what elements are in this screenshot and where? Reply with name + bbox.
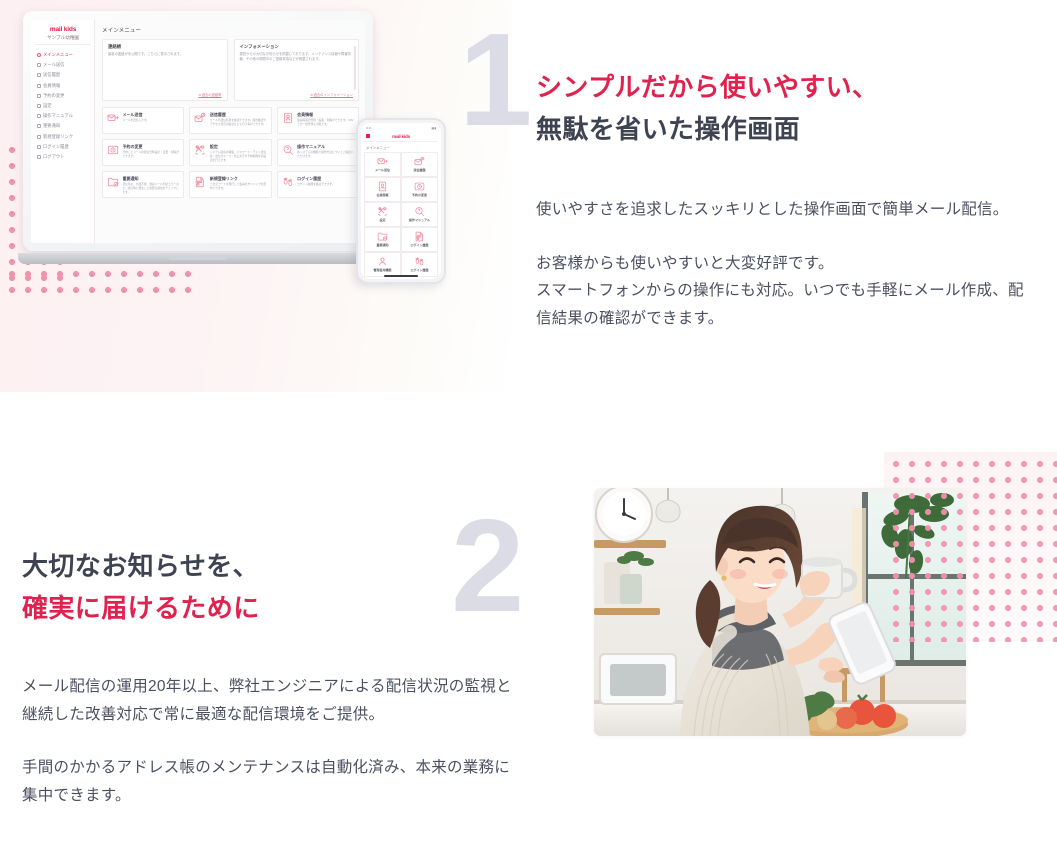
sidebar-item-settings[interactable]: 設定 <box>35 101 91 111</box>
sidebar-item-reservation-change[interactable]: 予約の変更 <box>35 91 91 101</box>
phone-tile-label: 重要通知 <box>376 243 388 247</box>
card-text: 配信停止、到達不能、迷惑メール判定エラーなど、送信時に発生した重要な通知をチェッ… <box>123 183 181 194</box>
member-card-icon <box>282 112 294 124</box>
phone-mockup: 9:41 ▮▮▮ mail kids メインメニュー メール送信 <box>356 118 446 284</box>
app-logo: mail kids <box>35 26 91 33</box>
panel-archive-link[interactable]: ≫過去の連絡帳 <box>198 92 221 97</box>
phone-tile-admin[interactable]: 管理者用機能 <box>364 252 401 277</box>
link-icon <box>37 135 41 139</box>
tools-icon <box>194 144 206 156</box>
device-mockup: mail kids サンプル幼稚園 メインメニュー メール送信 <box>0 0 460 300</box>
card-reservation-change[interactable]: 予約の変更 予約したメールの配信日時設定・変更・削除ができます。 <box>102 139 184 166</box>
phone-tile-signup-link[interactable]: ログイン履歴 <box>401 227 438 252</box>
paragraph: 手間のかかるアドレス帳のメンテナンスは自動化済み、本来の業務に集中できます。 <box>22 754 522 809</box>
card-text: メールの送信結果を確認できます。開封確認やアクセス状況の確認なども行う事ができま… <box>210 119 268 127</box>
clock-mail-icon <box>107 144 119 156</box>
card-text: 予約したメールの配信日時設定・変更・削除ができます。 <box>123 151 181 159</box>
mail-send-icon <box>377 156 388 167</box>
section-2-body: メール配信の運用20年以上、弊社エンジニアによる配信状況の監視と継続した改善対応… <box>22 673 522 809</box>
headline-line-1: シンプルだから使いやすい、 <box>536 66 878 108</box>
paragraph: メール配信の運用20年以上、弊社エンジニアによる配信状況の監視と継続した改善対応… <box>22 673 522 728</box>
panel-heading: インフォメーション <box>240 44 354 50</box>
sidebar-item-label: 重要通知 <box>43 123 60 129</box>
card-title: ログイン履歴 <box>297 176 334 182</box>
sidebar-item-mail-send[interactable]: メール送信 <box>35 60 91 70</box>
sidebar-item-label: ログイン履歴 <box>43 144 69 150</box>
phone-tile-label: 会員情報 <box>376 193 388 197</box>
phone-tile-send-history[interactable]: 送信履歴 <box>401 152 438 177</box>
section-1-headline: シンプルだから使いやすい、 無駄を省いた操作画面 <box>536 66 878 150</box>
card-title: 新規登録リンク <box>210 176 268 182</box>
panel-scrollbar[interactable] <box>354 46 356 90</box>
phone-tile-label: 予約の変更 <box>412 193 427 197</box>
panel-renrakucho: 連絡帳 最新の連絡が未公開です。こちらに表示されます。 ≫過去の連絡帳 <box>102 39 228 101</box>
card-settings[interactable]: 設定 システム環境の構築、パスワード・テスト送信先・送信グループ・禁止文字や予約… <box>189 139 271 166</box>
sidebar-item-label: ログアウト <box>43 154 64 160</box>
phone-tile-mail-send[interactable]: メール送信 <box>364 152 401 177</box>
sidebar-item-logout[interactable]: ログアウト <box>35 152 91 162</box>
search-manual-icon <box>282 144 294 156</box>
phone-tile-label: ログイン履歴 <box>410 268 428 272</box>
phone-tile-settings[interactable]: 設定 <box>364 202 401 227</box>
person-icon <box>377 256 388 267</box>
status-time: 9:41 <box>366 126 371 130</box>
phone-app-bar: mail kids <box>364 132 438 143</box>
card-important-notice[interactable]: 重要通知 配信停止、到達不能、迷惑メール判定エラーなど、送信時に発生した重要な通… <box>102 171 184 198</box>
paragraph: お客様からも使いやすいと大変好評です。 スマートフォンからの操作にも対応。いつで… <box>536 250 1036 333</box>
logout-icon <box>37 155 41 159</box>
sidebar-item-label: メール送信 <box>43 62 64 68</box>
headline-line-2: 無駄を省いた操作画面 <box>536 108 878 150</box>
sidebar-item-member-info[interactable]: 会員情報 <box>35 81 91 91</box>
laptop-notch <box>168 257 228 260</box>
member-card-icon <box>377 181 388 192</box>
mail-icon <box>37 63 41 67</box>
phone-tile-member-info[interactable]: 会員情報 <box>364 177 401 202</box>
card-title: メール送信 <box>123 112 150 118</box>
clock-mail-icon <box>414 181 425 192</box>
phone-screen: 9:41 ▮▮▮ mail kids メインメニュー メール送信 <box>361 123 441 279</box>
phone-page-title: メインメニュー <box>364 142 438 152</box>
hamburger-icon[interactable] <box>366 134 370 138</box>
sidebar-item-login-history[interactable]: ログイン履歴 <box>35 142 91 152</box>
card-mail-send[interactable]: メール送信 メールを送信します。 <box>102 107 184 134</box>
phone-tile-important-notice[interactable]: 重要通知 <box>364 227 401 252</box>
sidebar-item-label: 送信履歴 <box>43 72 60 78</box>
sidebar-item-label: 予約の変更 <box>43 93 64 99</box>
card-title: 会員情報 <box>297 112 355 118</box>
sidebar-item-label: メインメニュー <box>43 52 73 58</box>
history-icon <box>37 73 41 77</box>
panel-text: 運営からの大切なお知らせを掲載しております。メンテナンス情報や障害情報、その他の… <box>240 52 354 62</box>
phone-tile-label: ログイン履歴 <box>410 243 428 247</box>
headline-line-2: 確実に届けるために <box>22 587 260 629</box>
phone-tile-label: 操作マニュアル <box>409 218 430 222</box>
app-org-name: サンプル幼稚園 <box>35 35 91 45</box>
laptop-screen: mail kids サンプル幼稚園 メインメニュー メール送信 <box>31 20 365 243</box>
app-main-content: メインメニュー 連絡帳 最新の連絡が未公開です。こちらに表示されます。 ≫過去の… <box>95 20 365 243</box>
card-signup-link[interactable]: 新規登録リンク 二次元コードを発行して会員の方へリンクを配布できます。 <box>189 171 271 198</box>
search-manual-icon <box>414 206 425 217</box>
phone-tile-reservation-change[interactable]: 予約の変更 <box>401 177 438 202</box>
phone-home-indicator <box>384 275 418 277</box>
card-text: 二次元コードを発行して会員の方へリンクを配布できます。 <box>210 183 268 191</box>
folder-alert-icon <box>377 231 388 242</box>
phone-tile-grid: メール送信 送信履歴 会員情報 予約の変更 <box>364 152 438 277</box>
card-text: 本システムの機能と操作方法についてご確認いただけます。 <box>297 151 355 159</box>
sidebar-item-label: 操作マニュアル <box>43 113 73 119</box>
card-text: システム環境の構築、パスワード・テスト送信先・送信グループ・禁止文字や予約制限等… <box>210 151 268 162</box>
footprints-icon <box>414 256 425 267</box>
page-title: メインメニュー <box>102 26 359 34</box>
phone-tile-label: メール送信 <box>375 168 390 172</box>
card-text: メールを送信します。 <box>123 119 150 123</box>
phone-tile-manual[interactable]: 操作マニュアル <box>401 202 438 227</box>
calendar-icon <box>37 94 41 98</box>
section-number-1: 1 <box>459 26 528 134</box>
card-login-history[interactable]: ログイン履歴 ログイン履歴を確認できます。 <box>277 171 359 198</box>
card-title: 送信履歴 <box>210 112 268 118</box>
section-1-body: 使いやすさを追求したスッキリとした操作画面で簡単メール配信。 お客様からも使いや… <box>536 196 1036 332</box>
qr-link-icon <box>414 231 425 242</box>
app-sidebar: mail kids サンプル幼稚園 メインメニュー メール送信 <box>31 20 95 243</box>
feature-section-1: mail kids サンプル幼稚園 メインメニュー メール送信 <box>0 0 1057 392</box>
dot-pattern-right <box>884 452 1057 642</box>
card-manual[interactable]: 操作マニュアル 本システムの機能と操作方法についてご確認いただけます。 <box>277 139 359 166</box>
panel-heading: 連絡帳 <box>108 44 222 50</box>
feature-cards-grid: メール送信 メールを送信します。 送信履歴 <box>102 107 359 198</box>
card-title: 重要通知 <box>123 176 181 182</box>
info-panels-row: 連絡帳 最新の連絡が未公開です。こちらに表示されます。 ≫過去の連絡帳 インフォ… <box>102 39 359 101</box>
phone-tile-label: 管理者用機能 <box>373 268 391 272</box>
laptop-mockup: mail kids サンプル幼稚園 メインメニュー メール送信 <box>18 11 378 264</box>
status-indicators: ▮▮▮ <box>431 126 436 130</box>
mail-history-icon <box>414 156 425 167</box>
book-icon <box>37 114 41 118</box>
sidebar-item-signup-link[interactable]: 新規登録リンク <box>35 132 91 142</box>
qr-link-icon <box>194 176 206 188</box>
mail-history-icon <box>194 112 206 124</box>
app-logo: mail kids <box>392 134 410 139</box>
card-title: 予約の変更 <box>123 144 181 150</box>
sidebar-item-main-menu[interactable]: メインメニュー <box>35 50 91 60</box>
footprints-icon <box>282 176 294 188</box>
card-title: 設定 <box>210 144 268 150</box>
mail-send-icon <box>107 112 119 124</box>
laptop-lid: mail kids サンプル幼稚園 メインメニュー メール送信 <box>23 11 373 251</box>
sidebar-item-manual[interactable]: 操作マニュアル <box>35 111 91 121</box>
paragraph: 使いやすさを追求したスッキリとした操作画面で簡単メール配信。 <box>536 196 1036 224</box>
card-send-history[interactable]: 送信履歴 メールの送信結果を確認できます。開封確認やアクセス状況の確認なども行う… <box>189 107 271 134</box>
card-text: 会員情報の登録・編集・削除ができます。CSVでの一括登録も可能です。 <box>297 119 355 127</box>
card-text: ログイン履歴を確認できます。 <box>297 183 334 187</box>
panel-information: インフォメーション 運営からの大切なお知らせを掲載しております。メンテナンス情報… <box>234 39 360 101</box>
panel-text: 最新の連絡が未公開です。こちらに表示されます。 <box>108 52 222 57</box>
card-member-info[interactable]: 会員情報 会員情報の登録・編集・削除ができます。CSVでの一括登録も可能です。 <box>277 107 359 134</box>
sidebar-item-label: 会員情報 <box>43 83 60 89</box>
laptop-base <box>18 253 378 264</box>
section-2-headline: 大切なお知らせを、 確実に届けるために <box>22 545 260 629</box>
headline-line-1: 大切なお知らせを、 <box>22 545 260 587</box>
phone-tile-label: 送信履歴 <box>413 168 425 172</box>
sidebar-item-send-history[interactable]: 送信履歴 <box>35 70 91 80</box>
phone-tile-login-history[interactable]: ログイン履歴 <box>401 252 438 277</box>
sidebar-item-important-notice[interactable]: 重要通知 <box>35 121 91 131</box>
panel-archive-link[interactable]: ≫過去のインフォメーション <box>310 92 353 97</box>
gear-icon <box>37 104 41 108</box>
member-icon <box>37 84 41 88</box>
sidebar-item-label: 新規登録リンク <box>43 134 73 140</box>
landing-page-features: mail kids サンプル幼稚園 メインメニュー メール送信 <box>0 0 1057 845</box>
home-icon <box>37 53 41 57</box>
sidebar-item-label: 設定 <box>43 103 52 109</box>
footprints-icon <box>37 145 41 149</box>
tools-icon <box>377 206 388 217</box>
section-number-2: 2 <box>451 512 520 620</box>
card-title: 操作マニュアル <box>297 144 355 150</box>
alert-icon <box>37 124 41 128</box>
folder-alert-icon <box>107 176 119 188</box>
phone-tile-label: 設定 <box>379 218 385 222</box>
